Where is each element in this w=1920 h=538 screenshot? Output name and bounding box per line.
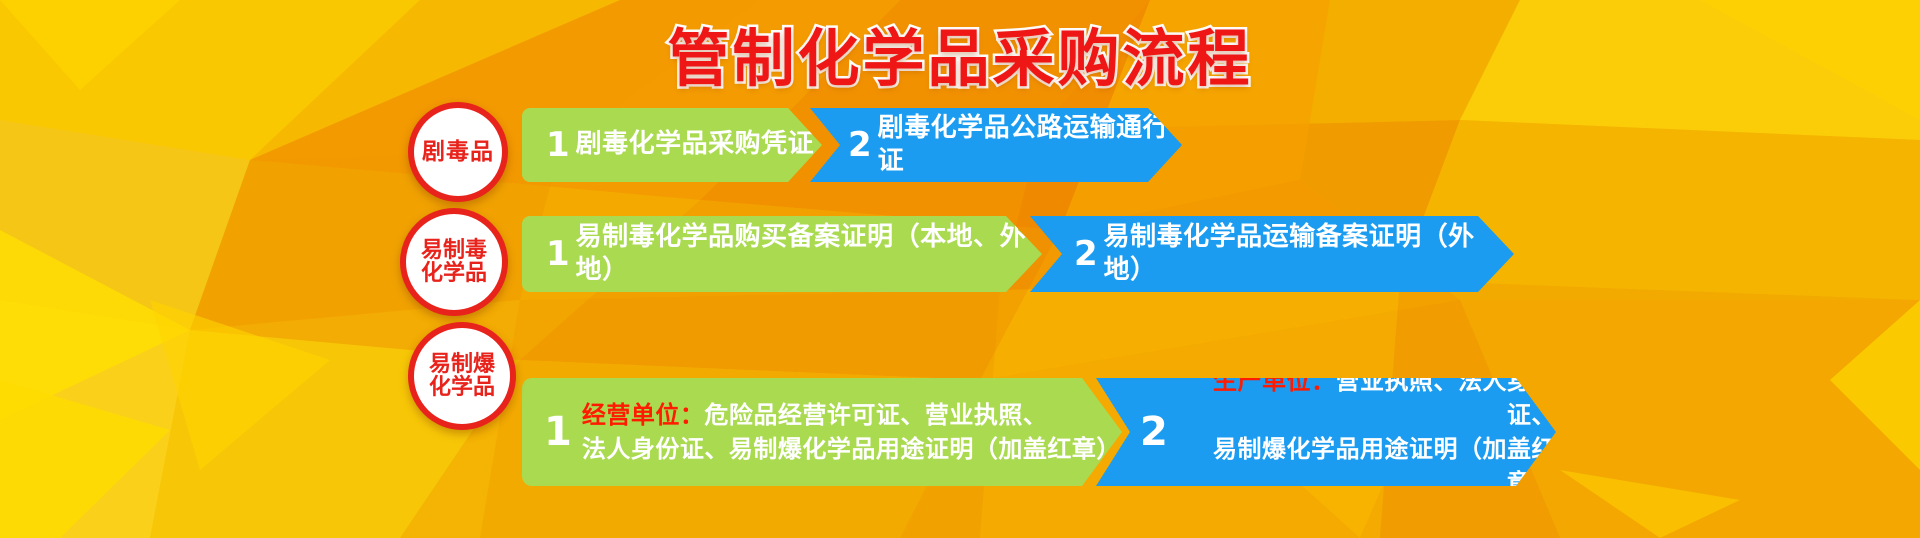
step-label: 剧毒化学品采购凭证 [576, 128, 815, 161]
step-drug-precursor-1[interactable]: 1 易制毒化学品购买备案证明（本地、外地） [522, 216, 1042, 292]
step-number: 2 [1140, 412, 1168, 452]
badge-line-2: 化学品 [429, 376, 495, 399]
step-label: 易制毒化学品运输备案证明（外地） [1104, 221, 1514, 288]
badge-text-drug-precursor: 易制毒 化学品 [421, 239, 487, 285]
category-badge-drug-precursor: 易制毒 化学品 [400, 208, 508, 316]
category-badge-toxic: 剧毒品 [408, 102, 508, 202]
step-number: 1 [544, 412, 572, 452]
badge-line-1: 易制爆 [429, 353, 495, 376]
step-number: 2 [1074, 237, 1098, 271]
step-number: 1 [546, 128, 570, 162]
badge-line-2: 化学品 [421, 262, 487, 285]
badge-text-toxic: 剧毒品 [422, 140, 494, 164]
step-label: 经营单位：危险品经营许可证、营业执照、 法人身份证、易制爆化学品用途证明（加盖红… [582, 398, 1121, 466]
step-number: 2 [848, 128, 872, 162]
step-text-line-1: 危险品经营许可证、营业执照、 [704, 401, 1047, 429]
badge-line-1: 剧毒品 [422, 140, 494, 164]
badge-text-explosive-precursor: 易制爆 化学品 [429, 353, 495, 399]
step-toxic-1[interactable]: 1 剧毒化学品采购凭证 [522, 108, 822, 182]
step-label: 易制毒化学品购买备案证明（本地、外地） [576, 221, 1042, 288]
step-explosive-precursor-2[interactable]: 2 生产单位：营业执照、法人身份证、 易制爆化学品用途证明（加盖红章） [1096, 378, 1556, 486]
badge-line-1: 易制毒 [421, 239, 487, 262]
step-tag: 经营单位： [582, 401, 705, 429]
step-drug-precursor-2[interactable]: 2 易制毒化学品运输备案证明（外地） [1030, 216, 1514, 292]
category-badge-explosive-precursor: 易制爆 化学品 [408, 322, 516, 430]
step-label: 生产单位：营业执照、法人身份证、 易制爆化学品用途证明（加盖红章） [1178, 364, 1556, 500]
step-number: 1 [546, 237, 570, 271]
step-label: 剧毒化学品公路运输通行证 [878, 112, 1182, 179]
step-explosive-precursor-1[interactable]: 1 经营单位：危险品经营许可证、营业执照、 法人身份证、易制爆化学品用途证明（加… [522, 378, 1122, 486]
step-text-line-2: 法人身份证、易制爆化学品用途证明（加盖红章） [582, 435, 1121, 463]
banner: 管制化学品采购流程 剧毒品 1 剧毒化学品采购凭证 2 剧毒化学品公路运输通行证… [0, 0, 1920, 538]
step-toxic-2[interactable]: 2 剧毒化学品公路运输通行证 [810, 108, 1182, 182]
